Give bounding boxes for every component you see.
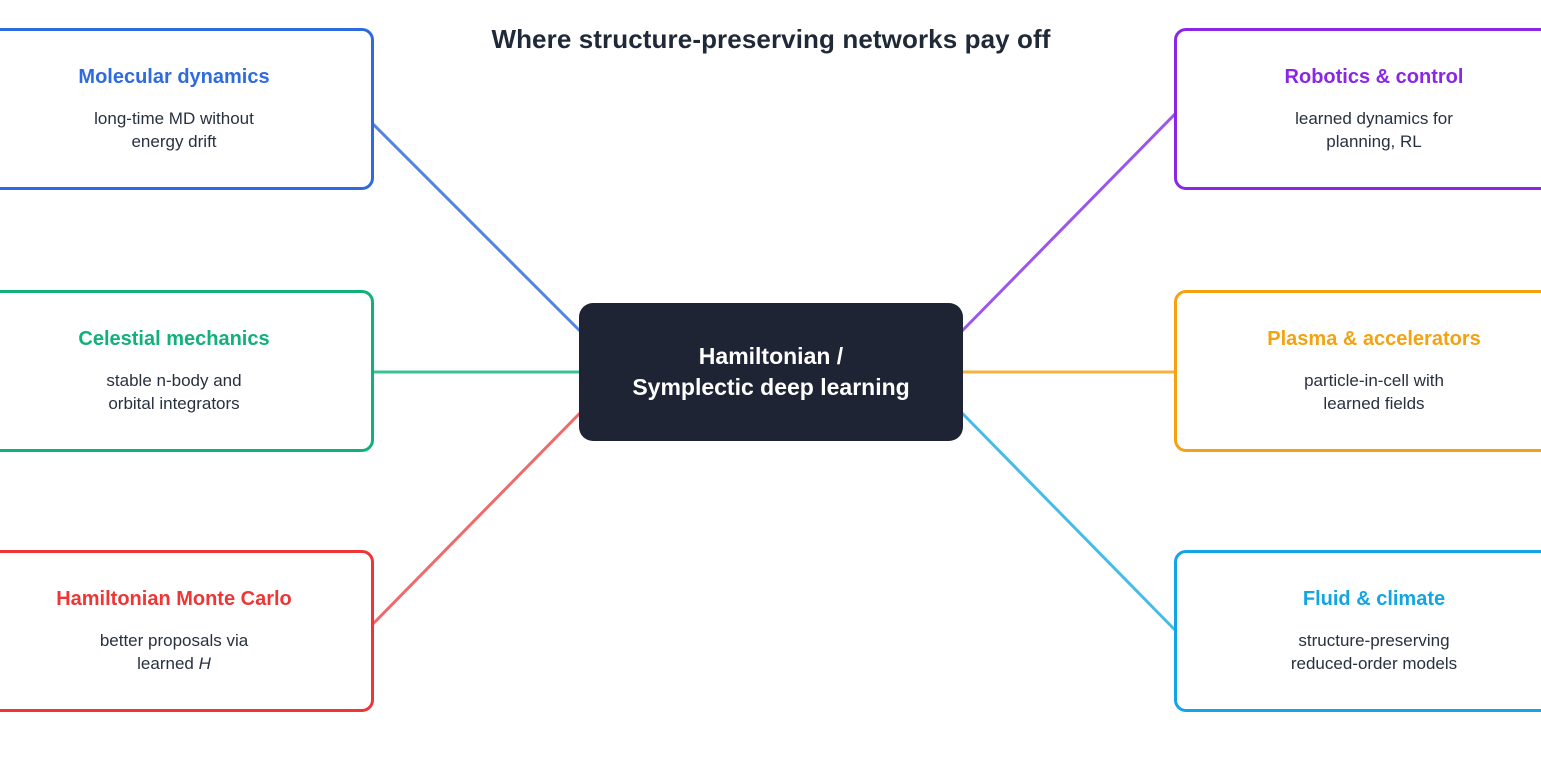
branch-title-robotics-control: Robotics & control (1285, 65, 1464, 90)
branch-desc-celestial-mechanics: stable n-body andorbital integrators (106, 370, 241, 414)
branch-card-fluid-climate[interactable]: Fluid & climate structure-preservingredu… (1174, 550, 1541, 712)
branch-card-celestial-mechanics[interactable]: Celestial mechanics stable n-body andorb… (0, 290, 374, 452)
branch-title-plasma-accelerators: Plasma & accelerators (1267, 327, 1480, 352)
connector-hamiltonian-monte-carlo (367, 413, 580, 630)
branch-title-molecular-dynamics: Molecular dynamics (78, 65, 269, 90)
branch-title-hamiltonian-monte-carlo: Hamiltonian Monte Carlo (56, 587, 292, 612)
branch-card-hamiltonian-monte-carlo[interactable]: Hamiltonian Monte Carlo better proposals… (0, 550, 374, 712)
branch-card-robotics-control[interactable]: Robotics & control learned dynamics forp… (1174, 28, 1541, 190)
branch-title-celestial-mechanics: Celestial mechanics (78, 327, 269, 352)
branch-desc-robotics-control: learned dynamics forplanning, RL (1295, 108, 1453, 152)
mindmap-canvas: Where structure-preserving networks pay … (0, 0, 1541, 769)
branch-desc-hamiltonian-monte-carlo: better proposals vialearned H (100, 630, 248, 674)
page-title: Where structure-preserving networks pay … (411, 24, 1131, 55)
branch-card-plasma-accelerators[interactable]: Plasma & accelerators particle-in-cell w… (1174, 290, 1541, 452)
connector-robotics-control (962, 114, 1175, 331)
central-node-label: Hamiltonian / Symplectic deep learning (632, 341, 909, 404)
branch-desc-fluid-climate: structure-preservingreduced-order models (1291, 630, 1457, 674)
branch-desc-molecular-dynamics: long-time MD withoutenergy drift (94, 108, 254, 152)
connector-molecular-dynamics (367, 118, 580, 331)
connector-fluid-climate (962, 413, 1175, 630)
branch-title-fluid-climate: Fluid & climate (1303, 587, 1445, 612)
central-node[interactable]: Hamiltonian / Symplectic deep learning (579, 303, 963, 441)
branch-desc-plasma-accelerators: particle-in-cell withlearned fields (1304, 370, 1444, 414)
branch-card-molecular-dynamics[interactable]: Molecular dynamics long-time MD withoute… (0, 28, 374, 190)
